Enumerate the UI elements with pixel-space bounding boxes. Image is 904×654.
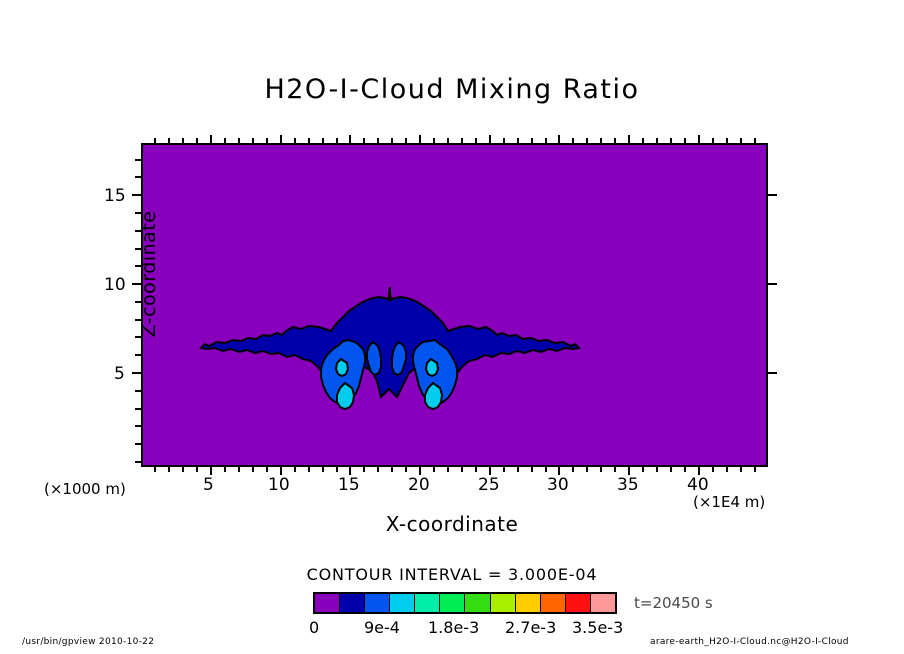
xtick-minor-top	[628, 135, 630, 143]
y-axis-label: Z-coordinate	[138, 174, 160, 374]
xtick-minor-top	[433, 138, 435, 143]
xtick-minor	[586, 467, 588, 472]
xtick-minor-top	[391, 138, 393, 143]
colorbar-swatch	[415, 594, 440, 612]
xtick-minor	[642, 467, 644, 472]
xtick-minor-top	[572, 138, 574, 143]
xtick-major	[210, 467, 212, 475]
colorbar-swatch	[340, 594, 365, 612]
xtick-minor	[336, 467, 338, 472]
footer-left: /usr/bin/gpview 2010-10-22	[22, 637, 154, 647]
xtick-minor-top	[712, 138, 714, 143]
xtick-minor-top	[740, 138, 742, 143]
xtick-minor	[726, 467, 728, 472]
xtick-minor-top	[238, 138, 240, 143]
xtick-minor-top	[545, 138, 547, 143]
colorbar-swatch	[465, 594, 490, 612]
colorbar-tick-label: 3.5e-3	[572, 618, 623, 637]
xtick-minor	[517, 467, 519, 472]
xtick-minor	[740, 467, 742, 472]
colorbar-swatch	[390, 594, 415, 612]
xtick-minor-top	[210, 135, 212, 143]
xtick-minor-top	[196, 138, 198, 143]
x-unit-left: (×1000 m)	[44, 480, 126, 498]
xtick-minor	[363, 467, 365, 472]
xtick-minor-top	[182, 138, 184, 143]
xtick-label: 25	[478, 475, 500, 495]
ytick-label: 15	[104, 186, 126, 206]
colorbar-swatch	[591, 594, 615, 612]
xtick-minor	[238, 467, 240, 472]
xtick-minor	[294, 467, 296, 472]
colorbar-tick-label: 2.7e-3	[505, 618, 556, 637]
xtick-minor-top	[349, 135, 351, 143]
xtick-minor	[475, 467, 477, 472]
xtick-minor	[545, 467, 547, 472]
xtick-minor	[503, 467, 505, 472]
xtick-major	[558, 467, 560, 475]
ytick-minor	[135, 159, 141, 161]
xtick-minor	[531, 467, 533, 472]
xtick-minor	[754, 467, 756, 472]
xtick-minor-top	[363, 138, 365, 143]
xtick-minor-top	[670, 138, 672, 143]
xtick-label: 30	[547, 475, 569, 495]
footer-right: arare-earth_H2O-I-Cloud.nc@H2O-I-Cloud	[650, 637, 849, 647]
xtick-minor-top	[266, 138, 268, 143]
colorbar-swatch	[491, 594, 516, 612]
xtick-minor	[572, 467, 574, 472]
contour-field	[143, 145, 768, 467]
ytick-label: 10	[104, 275, 126, 295]
colorbar-swatch	[440, 594, 465, 612]
ytick-label: 5	[114, 364, 125, 384]
xtick-minor-top	[531, 138, 533, 143]
xtick-minor	[712, 467, 714, 472]
plot-area: 5 10 15 20 25 30 35 40 5 10 15 Z-coordin…	[141, 143, 768, 467]
xtick-minor-top	[308, 138, 310, 143]
xtick-minor-top	[586, 138, 588, 143]
colorbar-swatch	[566, 594, 591, 612]
colorbar-tick-label: 9e-4	[364, 618, 400, 637]
xtick-minor	[447, 467, 449, 472]
ytick-minor	[135, 443, 141, 445]
xtick-minor-top	[461, 138, 463, 143]
xtick-minor	[224, 467, 226, 472]
page-title: H2O-I-Cloud Mixing Ratio	[0, 74, 904, 105]
xtick-minor	[461, 467, 463, 472]
colorbar-swatch	[365, 594, 390, 612]
xtick-minor	[600, 467, 602, 472]
xtick-minor-top	[336, 138, 338, 143]
xtick-minor	[391, 467, 393, 472]
xtick-minor-top	[503, 138, 505, 143]
ytick-minor	[135, 390, 141, 392]
ytick-minor	[135, 408, 141, 410]
xtick-minor-top	[558, 135, 560, 143]
contour-interval-label: CONTOUR INTERVAL = 3.000E-04	[0, 565, 904, 584]
x-unit-right: (×1E4 m)	[693, 493, 765, 511]
xtick-minor	[656, 467, 658, 472]
colorbar-swatch	[541, 594, 566, 612]
ytick-right	[768, 372, 777, 374]
xtick-minor-top	[475, 138, 477, 143]
xtick-major	[489, 467, 491, 475]
xtick-minor-top	[726, 138, 728, 143]
ytick-right	[768, 283, 777, 285]
xtick-minor-top	[614, 138, 616, 143]
xtick-major	[349, 467, 351, 475]
xtick-label: 5	[203, 475, 214, 495]
xtick-major	[698, 467, 700, 475]
xtick-minor	[670, 467, 672, 472]
time-label: t=20450 s	[634, 594, 713, 612]
xtick-minor	[322, 467, 324, 472]
ytick-minor	[135, 425, 141, 427]
xtick-minor-top	[447, 138, 449, 143]
plot-frame	[141, 143, 768, 467]
xtick-minor-top	[419, 135, 421, 143]
xtick-minor-top	[684, 138, 686, 143]
xtick-label: 40	[687, 475, 709, 495]
xtick-minor	[377, 467, 379, 472]
xtick-minor-top	[405, 138, 407, 143]
xtick-minor	[614, 467, 616, 472]
xtick-minor	[308, 467, 310, 472]
xtick-minor-top	[280, 135, 282, 143]
xtick-label: 35	[617, 475, 639, 495]
xtick-minor-top	[168, 138, 170, 143]
xtick-minor-top	[754, 138, 756, 143]
xtick-minor-top	[154, 138, 156, 143]
xtick-minor	[252, 467, 254, 472]
xtick-minor-top	[600, 138, 602, 143]
xtick-major	[628, 467, 630, 475]
xtick-minor	[405, 467, 407, 472]
contour-background	[143, 145, 768, 467]
colorbar[interactable]	[313, 592, 617, 614]
xtick-minor	[433, 467, 435, 472]
xtick-minor-top	[377, 138, 379, 143]
xtick-minor	[196, 467, 198, 472]
xtick-minor-top	[224, 138, 226, 143]
xtick-minor	[154, 467, 156, 472]
xtick-minor-top	[656, 138, 658, 143]
xtick-minor	[266, 467, 268, 472]
colorbar-swatch	[516, 594, 541, 612]
xtick-major	[280, 467, 282, 475]
xtick-minor-top	[294, 138, 296, 143]
xtick-label: 15	[338, 475, 360, 495]
xtick-label: 20	[408, 475, 430, 495]
colorbar-tick-label: 1.8e-3	[428, 618, 479, 637]
xtick-minor-top	[322, 138, 324, 143]
xtick-major	[419, 467, 421, 475]
xtick-minor-top	[489, 135, 491, 143]
xtick-label: 10	[268, 475, 290, 495]
ytick-right	[768, 194, 777, 196]
xtick-minor-top	[698, 135, 700, 143]
ytick-minor	[135, 461, 141, 463]
xtick-minor-top	[517, 138, 519, 143]
xtick-minor-top	[642, 138, 644, 143]
colorbar-tick-label: 0	[309, 618, 319, 637]
colorbar-swatch	[315, 594, 340, 612]
x-axis-label: X-coordinate	[0, 512, 904, 536]
xtick-minor	[684, 467, 686, 472]
xtick-minor-top	[252, 138, 254, 143]
xtick-minor	[182, 467, 184, 472]
xtick-minor	[168, 467, 170, 472]
